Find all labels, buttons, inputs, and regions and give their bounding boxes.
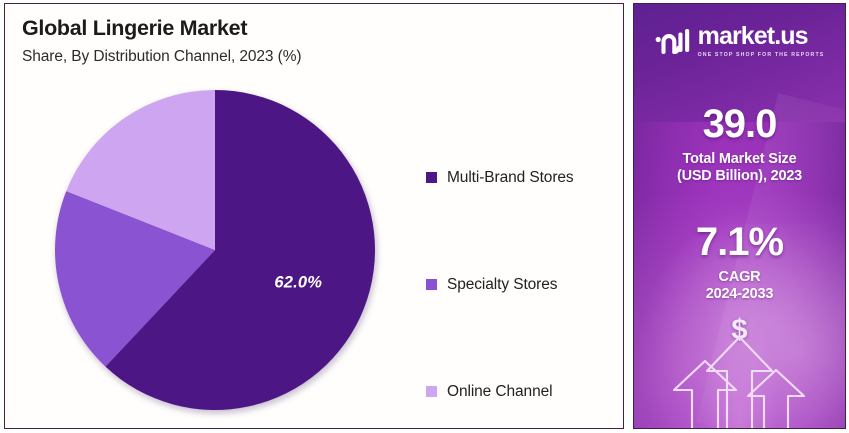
chart-subtitle: Share, By Distribution Channel, 2023 (%) bbox=[22, 48, 301, 66]
legend-label: Specialty Stores bbox=[447, 276, 557, 294]
stat-market-size: 39.0 Total Market Size (USD Billion), 20… bbox=[634, 104, 845, 186]
chart-legend: Multi-Brand Stores Specialty Stores Onli… bbox=[426, 124, 616, 433]
legend-label: Multi-Brand Stores bbox=[447, 169, 574, 187]
brand-logo[interactable]: market.us ONE STOP SHOP FOR THE REPORTS bbox=[634, 24, 845, 58]
arrows-svg bbox=[634, 298, 845, 428]
pie-slices bbox=[55, 90, 375, 410]
growth-arrows-graphic: $ bbox=[634, 298, 845, 428]
logo-tagline: ONE STOP SHOP FOR THE REPORTS bbox=[698, 52, 825, 58]
stat-market-size-value: 39.0 bbox=[634, 104, 845, 144]
legend-swatch-icon bbox=[426, 172, 437, 183]
legend-item-multi-brand-stores[interactable]: Multi-Brand Stores bbox=[426, 124, 616, 231]
pie-slice-label-multi-brand-stores: 62.0% bbox=[274, 273, 322, 292]
page-title: Global Lingerie Market bbox=[22, 16, 247, 41]
pie-chart: 62.0% bbox=[49, 82, 385, 418]
stat-market-size-caption-line2: (USD Billion), 2023 bbox=[634, 168, 845, 185]
stat-market-size-caption: Total Market Size (USD Billion), 2023 bbox=[634, 151, 845, 186]
legend-item-online-channel[interactable]: Online Channel bbox=[426, 338, 616, 433]
legend-label: Online Channel bbox=[447, 383, 552, 401]
legend-item-specialty-stores[interactable]: Specialty Stores bbox=[426, 231, 616, 338]
market-us-logo-icon bbox=[655, 26, 691, 56]
stats-panel: market.us ONE STOP SHOP FOR THE REPORTS … bbox=[633, 3, 846, 429]
chart-panel: Global Lingerie Market Share, By Distrib… bbox=[4, 3, 624, 429]
arrow-up-right-icon bbox=[748, 370, 804, 428]
legend-swatch-icon bbox=[426, 386, 437, 397]
stat-market-size-caption-line1: Total Market Size bbox=[683, 151, 797, 167]
stat-cagr: 7.1% CAGR 2024-2033 bbox=[634, 222, 845, 304]
stat-cagr-value: 7.1% bbox=[634, 222, 845, 262]
pie-chart-svg bbox=[49, 82, 385, 418]
legend-swatch-icon bbox=[426, 279, 437, 290]
logo-text: market.us ONE STOP SHOP FOR THE REPORTS bbox=[698, 24, 825, 58]
stat-cagr-caption-line1: CAGR bbox=[719, 269, 761, 285]
logo-wordmark: market.us bbox=[698, 24, 825, 49]
infographic-root: Global Lingerie Market Share, By Distrib… bbox=[0, 0, 849, 433]
